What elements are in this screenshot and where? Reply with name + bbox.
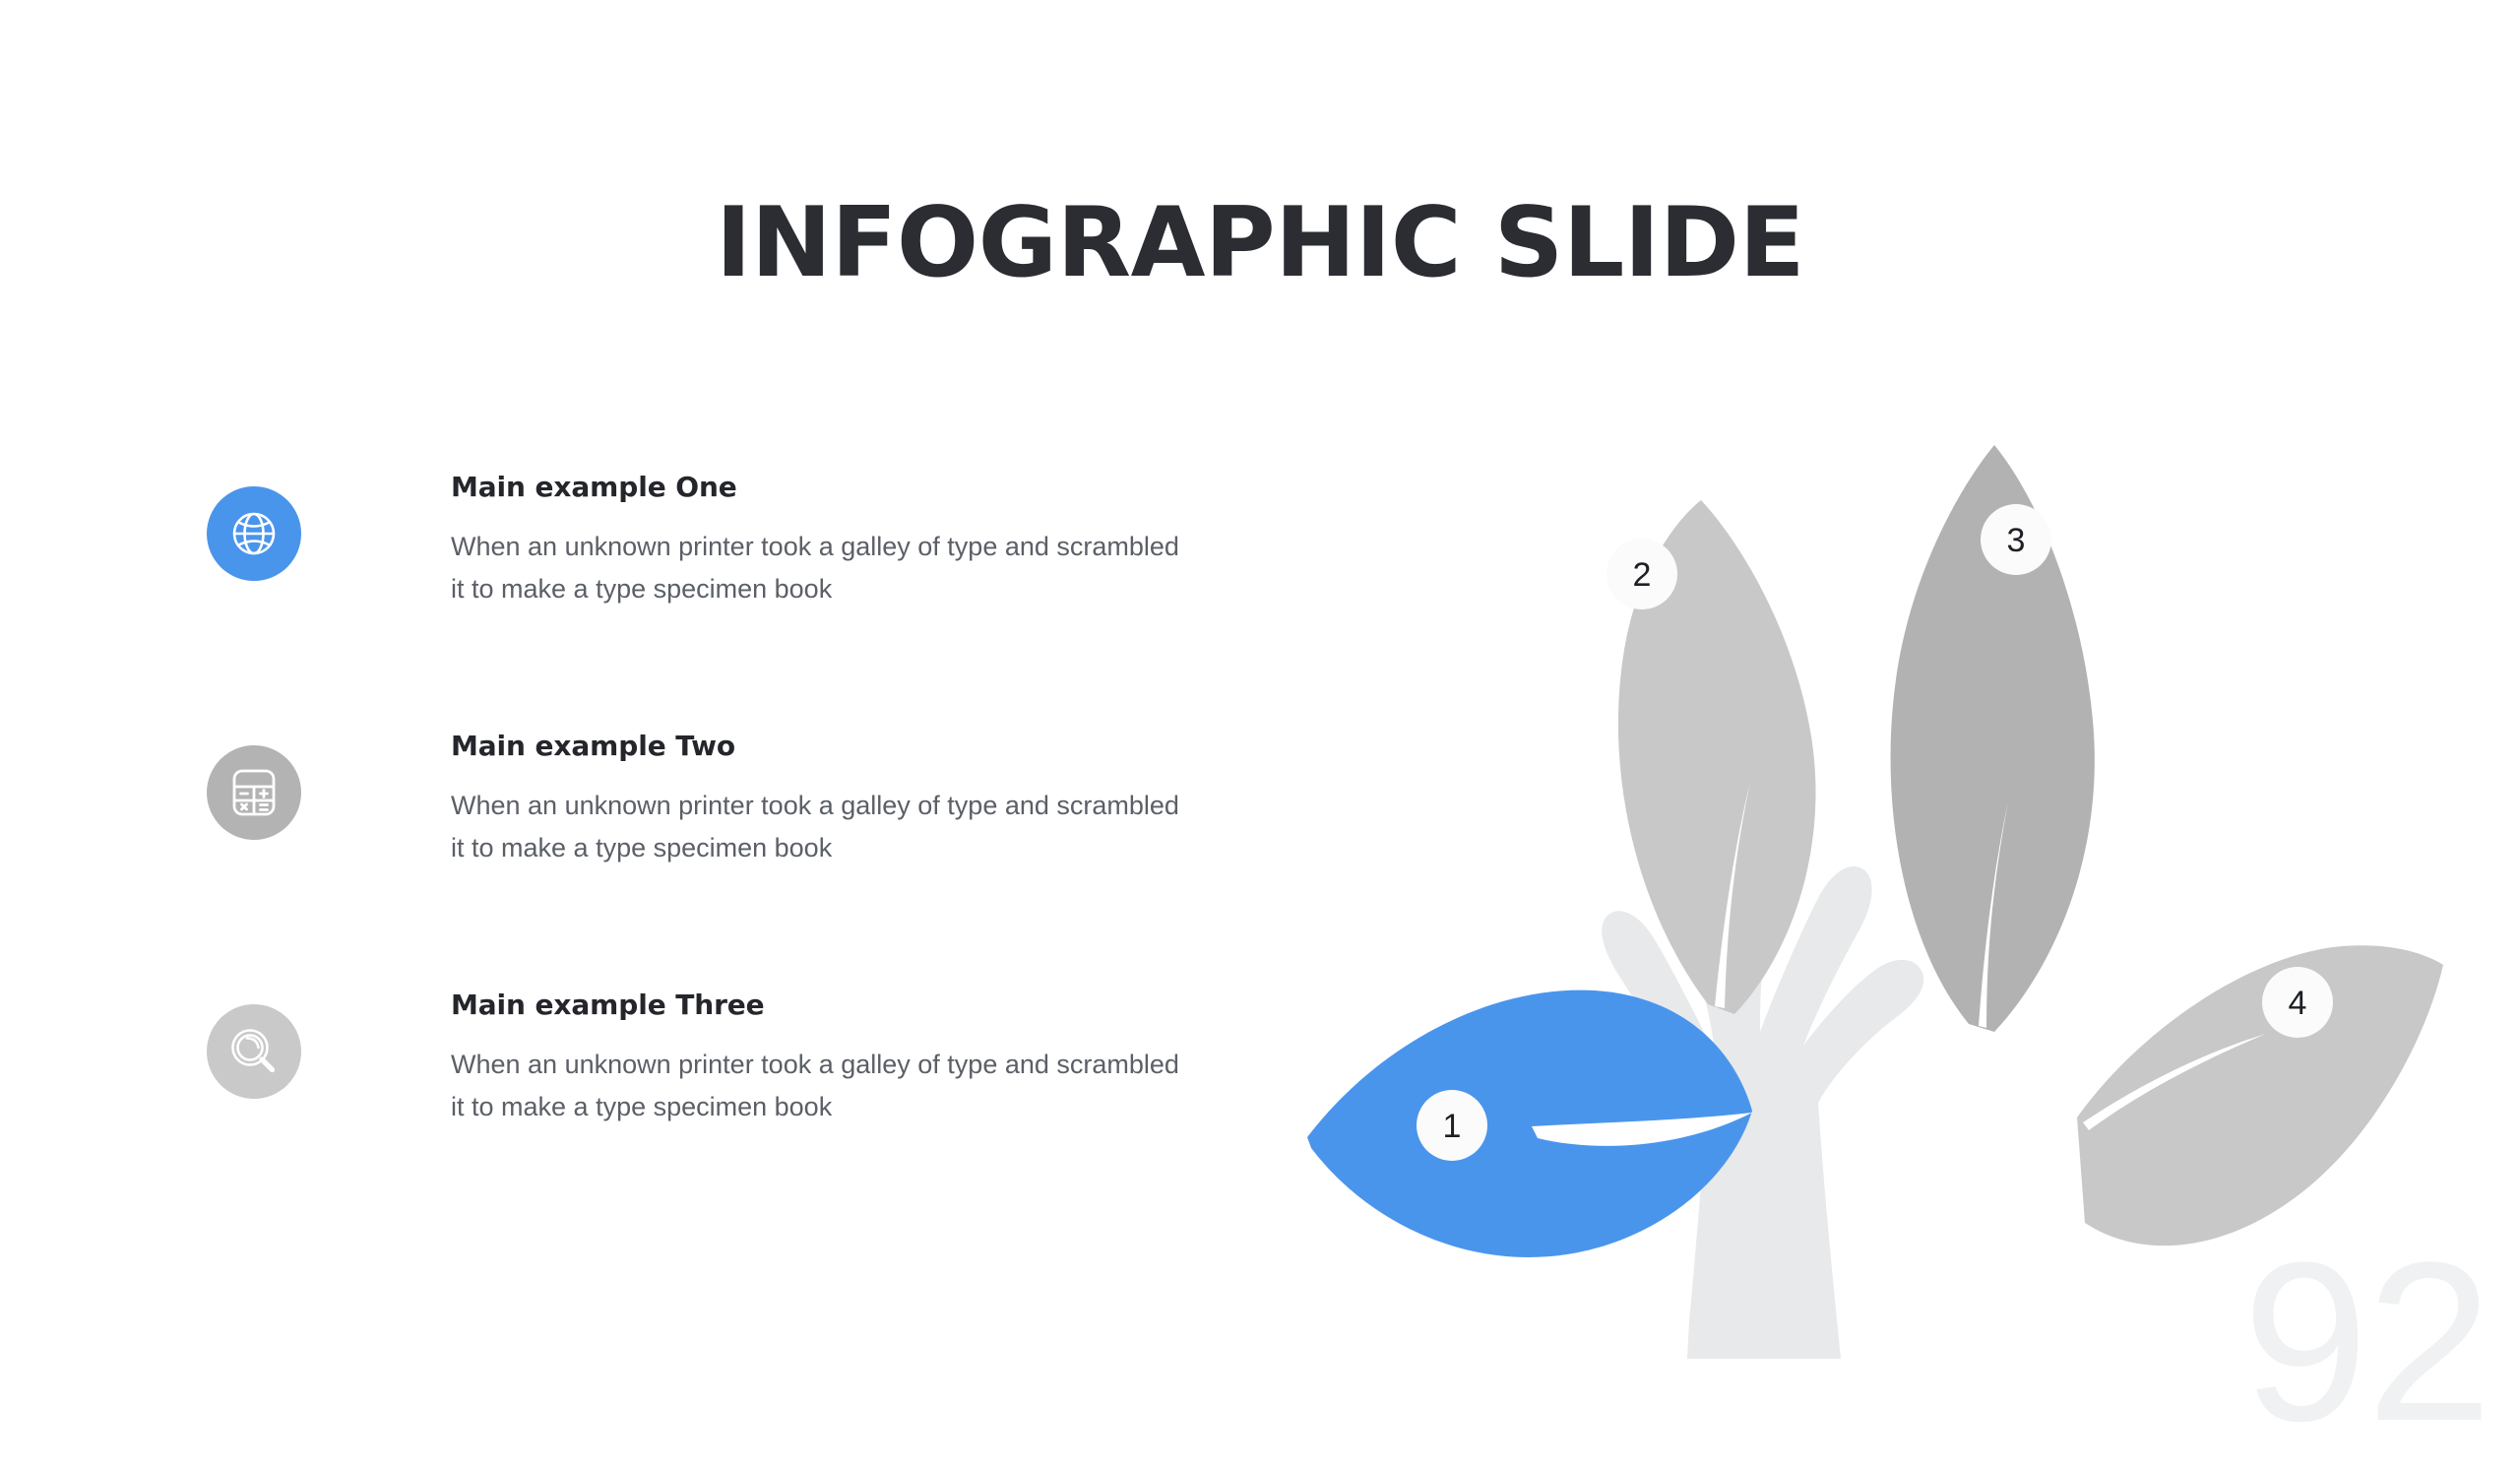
globe-icon [228, 508, 280, 559]
leaf-number-four: 4 [2289, 985, 2307, 1022]
tree-illustration: 2 3 4 1 [1290, 374, 2451, 1359]
item-body: When an unknown printer took a galley of… [451, 1044, 1179, 1129]
leaf-one[interactable]: 1 [1307, 990, 1752, 1257]
magnifier-icon [227, 1025, 281, 1078]
page-title: INFOGRAPHIC SLIDE [0, 191, 2520, 297]
page-number-watermark: 92 [2242, 1229, 2490, 1455]
leaf-three[interactable]: 3 [1891, 445, 2095, 1032]
infographic-slide: INFOGRAPHIC SLIDE Main example One When [0, 0, 2520, 1418]
item-text-block: Main example Two When an unknown printer… [451, 730, 1199, 870]
item-body: When an unknown printer took a galley of… [451, 785, 1179, 870]
item-text-block: Main example Three When an unknown print… [451, 989, 1199, 1129]
item-heading: Main example One [451, 471, 1199, 504]
item-heading: Main example Three [451, 989, 1199, 1022]
list-item[interactable]: Main example One When an unknown printer… [207, 471, 1201, 730]
example-list: Main example One When an unknown printer… [207, 471, 1201, 1247]
leaf-number-one: 1 [1443, 1108, 1462, 1145]
item-icon-circle-one[interactable] [207, 486, 301, 581]
item-icon-circle-two[interactable] [207, 745, 301, 840]
item-body: When an unknown printer took a galley of… [451, 526, 1179, 611]
item-icon-circle-three[interactable] [207, 1004, 301, 1099]
item-heading: Main example Two [451, 730, 1199, 763]
leaf-number-two: 2 [1633, 556, 1652, 594]
item-text-block: Main example One When an unknown printer… [451, 471, 1199, 611]
leaf-number-three: 3 [2007, 522, 2026, 559]
calculator-icon [229, 767, 279, 818]
list-item[interactable]: Main example Three When an unknown print… [207, 989, 1201, 1247]
leaf-four[interactable]: 4 [2077, 945, 2443, 1245]
list-item[interactable]: Main example Two When an unknown printer… [207, 730, 1201, 989]
